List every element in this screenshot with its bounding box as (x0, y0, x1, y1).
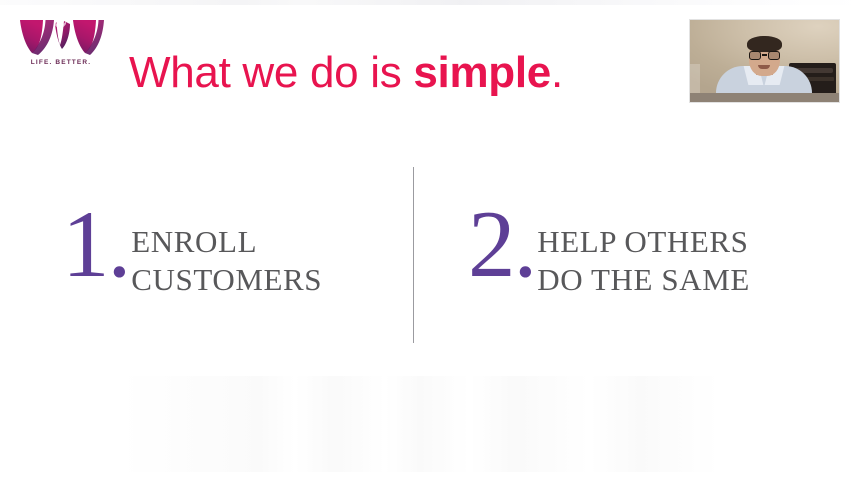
logo-tagline: LIFE. BETTER. (18, 59, 104, 66)
webcam-video-image (690, 20, 839, 102)
presenter-glasses-icon (748, 51, 781, 60)
step-item-1: 1. ENROLL CUSTOMERS (62, 205, 322, 299)
steps-container: 1. ENROLL CUSTOMERS 2. HELP OTHERS DO TH… (0, 205, 862, 315)
step-1-line-2: CUSTOMERS (131, 261, 322, 299)
slide-title-suffix: . (551, 48, 563, 97)
step-1-number: 1. (62, 201, 129, 287)
step-1-line-1: ENROLL (131, 223, 322, 261)
presentation-slide: LIFE. BETTER. What we do is simple. (0, 0, 862, 485)
webcam-presenter (716, 35, 812, 93)
viv-logo: LIFE. BETTER. (18, 18, 114, 76)
step-2-line-2: DO THE SAME (537, 261, 750, 299)
webcam-wall-panel (690, 64, 700, 94)
step-2-number: 2. (468, 201, 535, 287)
glasses-lens-left (749, 51, 761, 60)
top-edge-artifact (0, 0, 862, 5)
presenter-webcam-panel[interactable] (690, 20, 839, 102)
step-1-text: ENROLL CUSTOMERS (131, 223, 322, 299)
glasses-lens-right (768, 51, 780, 60)
slide-title-plain: What we do is (129, 48, 413, 97)
slide-title-emphasis: simple (413, 48, 551, 97)
step-2-text: HELP OTHERS DO THE SAME (537, 223, 750, 299)
step-2-line-1: HELP OTHERS (537, 223, 750, 261)
viv-wordmark-icon (18, 18, 104, 56)
steps-vertical-divider (413, 167, 414, 343)
webcam-desk (690, 93, 839, 102)
glasses-bridge (762, 54, 767, 56)
background-compression-artifact (120, 376, 820, 472)
slide-title: What we do is simple. (129, 46, 563, 100)
presenter-hair (747, 36, 782, 52)
step-item-2: 2. HELP OTHERS DO THE SAME (468, 205, 750, 299)
